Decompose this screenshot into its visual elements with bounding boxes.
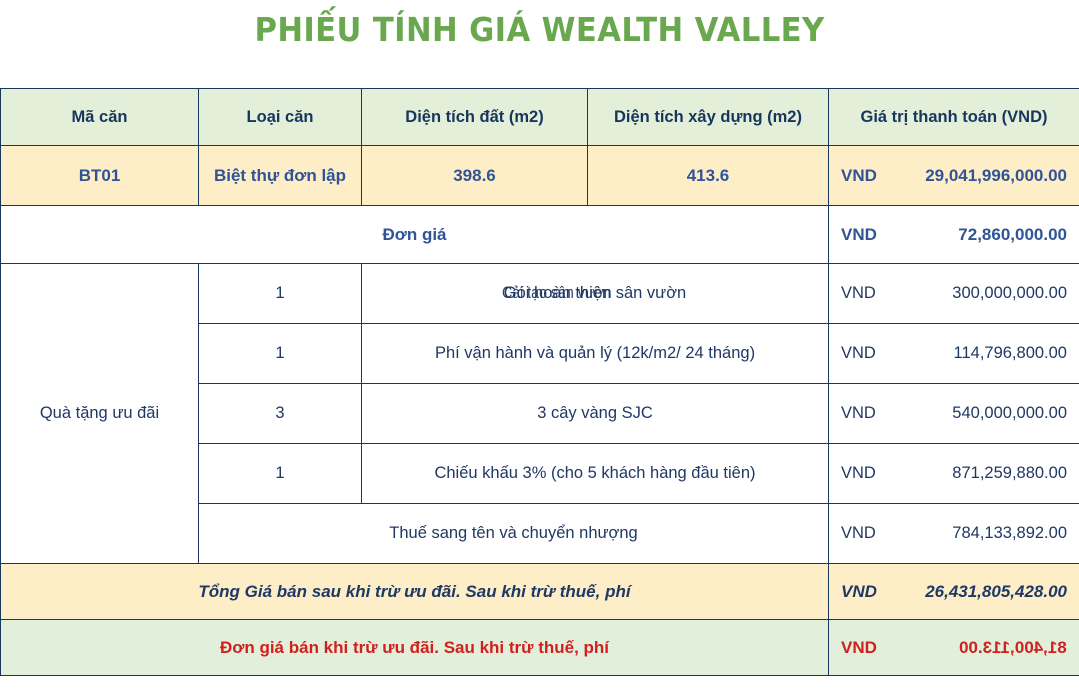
table-header-row: Mã căn Loại căn Diện tích đất (m2) Diện … bbox=[1, 89, 1079, 146]
cell-total-amount: VND 26,431,805,428.00 bbox=[829, 564, 1079, 620]
glitch-layer-primary: Gói hoàn thiện sân vườn bbox=[504, 284, 686, 302]
cell-don-gia-label: Đơn giá bbox=[1, 206, 829, 264]
cell-don-gia-amount: VND 72,860,000.00 bbox=[829, 206, 1079, 264]
cell-gia-tri-thanh-toan: VND 29,041,996,000.00 bbox=[829, 146, 1079, 206]
amount-value: 114,796,800.00 bbox=[886, 344, 1067, 363]
cell-loai-can: Biệt thự đơn lập bbox=[199, 146, 362, 206]
header-gia-tri-thanh-toan: Giá trị thanh toán (VND) bbox=[829, 89, 1079, 146]
cell-tax-amount: VND 784,133,892.00 bbox=[829, 504, 1079, 564]
cell-final-label: Đơn giá bán khi trừ ưu đãi. Sau khi trừ … bbox=[1, 620, 829, 676]
table-row-unit-info: BT01 Biệt thự đơn lập 398.6 413.6 VND 29… bbox=[1, 146, 1079, 206]
cell-tax-desc: Thuế sang tên và chuyển nhượng bbox=[199, 504, 829, 564]
cell-gift-qty: 3 bbox=[199, 384, 362, 444]
cell-gift-amount: VND 871,259,880.00 bbox=[829, 444, 1079, 504]
cell-total-label: Tổng Giá bán sau khi trừ ưu đãi. Sau khi… bbox=[1, 564, 829, 620]
cell-ma-can: BT01 bbox=[1, 146, 199, 206]
cell-dien-tich-dat: 398.6 bbox=[362, 146, 588, 206]
title-bar: PHIẾU TÍNH GIÁ WEALTH VALLEY bbox=[0, 0, 1079, 58]
amount-value: 300,000,000.00 bbox=[886, 284, 1067, 303]
cell-gift-desc: Gói hoàn thiện sân vườn Cải tạo sân vườn bbox=[362, 264, 829, 324]
currency-label: VND bbox=[841, 582, 887, 602]
cell-dien-tich-xay-dung: 413.6 bbox=[588, 146, 829, 206]
cell-gift-desc: 3 cây vàng SJC bbox=[362, 384, 829, 444]
currency-label: VND bbox=[841, 524, 886, 543]
currency-label: VND bbox=[841, 225, 887, 245]
price-table: Mã căn Loại căn Diện tích đất (m2) Diện … bbox=[0, 88, 1079, 676]
cell-final-amount: VND 81,400,113.00 bbox=[829, 620, 1079, 676]
cell-gift-amount: VND 300,000,000.00 bbox=[829, 264, 1079, 324]
cell-gift-desc: Phí vận hành và quản lý (12k/m2/ 24 thán… bbox=[362, 324, 829, 384]
currency-label: VND bbox=[841, 638, 887, 658]
currency-label: VND bbox=[841, 464, 886, 483]
cell-gift-amount: VND 114,796,800.00 bbox=[829, 324, 1079, 384]
currency-label: VND bbox=[841, 284, 886, 303]
cell-gift-qty: 1 bbox=[199, 324, 362, 384]
amount-value: 540,000,000.00 bbox=[886, 404, 1067, 423]
table-row-total: Tổng Giá bán sau khi trừ ưu đãi. Sau khi… bbox=[1, 564, 1079, 620]
table-row-gift-1: Quà tặng ưu đãi 1 Gói hoàn thiện sân vườ… bbox=[1, 264, 1079, 324]
cell-gift-group-label: Quà tặng ưu đãi bbox=[1, 264, 199, 564]
amount-value: 871,259,880.00 bbox=[886, 464, 1067, 483]
table-row-final-unit-price: Đơn giá bán khi trừ ưu đãi. Sau khi trừ … bbox=[1, 620, 1079, 676]
amount-value: 29,041,996,000.00 bbox=[887, 166, 1067, 186]
page-title: PHIẾU TÍNH GIÁ WEALTH VALLEY bbox=[254, 10, 824, 49]
header-dien-tich-dat: Diện tích đất (m2) bbox=[362, 89, 588, 146]
glitched-text: Gói hoàn thiện sân vườn Cải tạo sân vườn bbox=[504, 284, 686, 303]
amount-value: 26,431,805,428.00 bbox=[887, 582, 1067, 602]
header-dien-tich-xay-dung: Diện tích xây dựng (m2) bbox=[588, 89, 829, 146]
currency-label: VND bbox=[841, 404, 886, 423]
amount-value: 72,860,000.00 bbox=[887, 225, 1067, 245]
cell-gift-qty: 1 bbox=[199, 444, 362, 504]
currency-label: VND bbox=[841, 166, 887, 186]
header-loai-can: Loại căn bbox=[199, 89, 362, 146]
currency-label: VND bbox=[841, 344, 886, 363]
cell-gift-qty: 1 bbox=[199, 264, 362, 324]
header-ma-can: Mã căn bbox=[1, 89, 199, 146]
title-spacer bbox=[0, 58, 1079, 88]
cell-gift-amount: VND 540,000,000.00 bbox=[829, 384, 1079, 444]
mirrored-amount-glyphs: 81,400,113.00 bbox=[959, 638, 1067, 658]
table-row-don-gia: Đơn giá VND 72,860,000.00 bbox=[1, 206, 1079, 264]
amount-value: 784,133,892.00 bbox=[886, 524, 1067, 543]
amount-value: 81,400,113.00 bbox=[887, 638, 1067, 658]
price-sheet-page: PHIẾU TÍNH GIÁ WEALTH VALLEY Mã căn Loại… bbox=[0, 0, 1079, 690]
cell-gift-desc: Chiếu khấu 3% (cho 5 khách hàng đầu tiên… bbox=[362, 444, 829, 504]
